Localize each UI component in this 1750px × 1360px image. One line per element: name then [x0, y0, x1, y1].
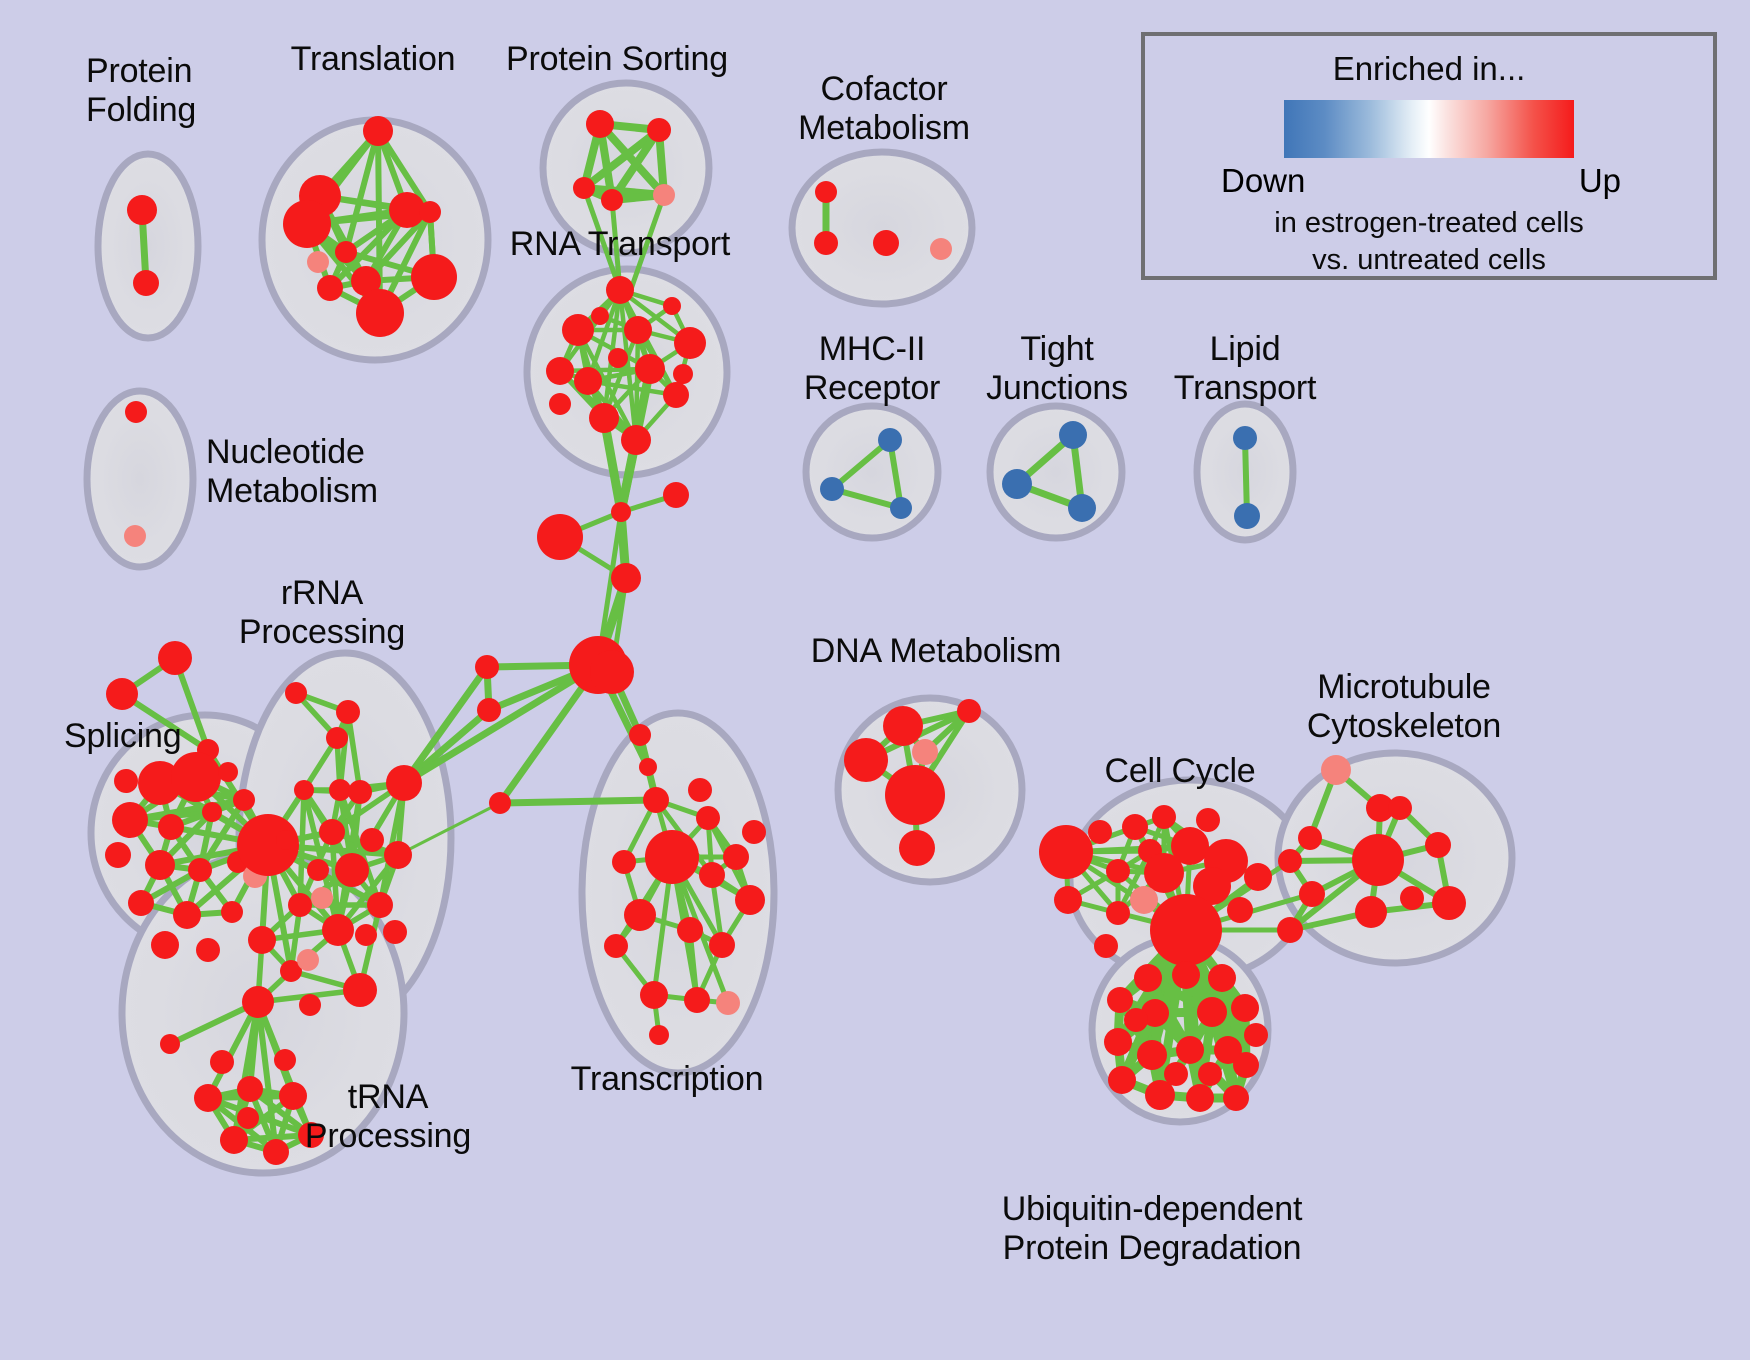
cluster-label-protein-folding: Protein Folding — [86, 52, 196, 131]
cluster-label-mhc-ii-receptor: MHC-II Receptor — [804, 330, 940, 409]
cluster-label-trna-processing: tRNA Processing — [305, 1078, 471, 1157]
cluster-label-microtubule-cytoskeleton: Microtubule Cytoskeleton — [1307, 668, 1501, 747]
legend-high-label: Up — [1579, 162, 1621, 200]
legend-color-gradient-bar — [1284, 100, 1574, 158]
cluster-label-rna-transport: RNA Transport — [510, 225, 730, 264]
legend-low-label: Down — [1221, 162, 1305, 200]
legend-title: Enriched in... — [1145, 50, 1713, 88]
cluster-hull-mhc — [806, 406, 938, 538]
cluster-label-cell-cycle: Cell Cycle — [1104, 752, 1255, 791]
cluster-label-lipid-transport: Lipid Transport — [1174, 330, 1316, 409]
cluster-hull-cofactor — [792, 152, 972, 304]
enrichment-map-figure: Protein Folding Translation Protein Sort… — [0, 0, 1750, 1360]
legend-caption-line-1: in estrogen-treated cells — [1145, 206, 1713, 241]
legend-endpoints: Down Up — [1219, 162, 1639, 204]
cluster-label-rrna-processing: rRNA Processing — [239, 574, 405, 653]
cluster-label-cofactor-metabolism: Cofactor Metabolism — [798, 70, 970, 149]
cluster-label-translation: Translation — [291, 40, 456, 79]
cluster-label-splicing: Splicing — [64, 717, 181, 756]
cluster-label-ubiquitin-degradation: Ubiquitin-dependent Protein Degradation — [1002, 1190, 1303, 1269]
legend-box: Enriched in... Down Up in estrogen-treat… — [1141, 32, 1717, 280]
cluster-label-transcription: Transcription — [571, 1060, 764, 1099]
cluster-hull-protein-folding — [98, 154, 198, 338]
legend-caption-line-2: vs. untreated cells — [1145, 243, 1713, 278]
cluster-label-nucleotide-metabolism: Nucleotide Metabolism — [206, 433, 378, 512]
cluster-label-dna-metabolism: DNA Metabolism — [811, 632, 1061, 671]
cluster-label-tight-junctions: Tight Junctions — [986, 330, 1128, 409]
cluster-label-protein-sorting: Protein Sorting — [506, 40, 728, 79]
